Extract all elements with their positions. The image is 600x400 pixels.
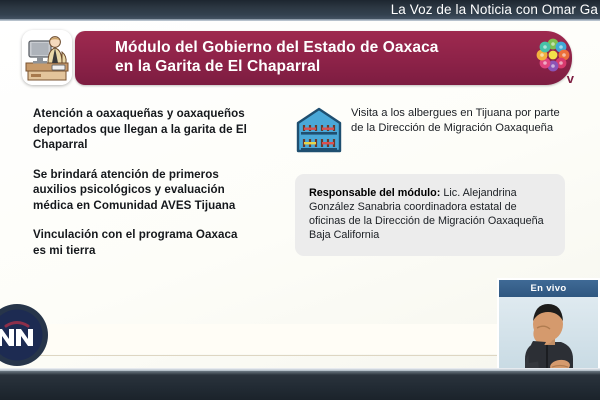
responsable-label: Responsable del módulo:: [309, 187, 440, 199]
status-badge: En vivo: [499, 280, 598, 297]
broadcast-screen: La Voz de la Noticia con Omar Ga: [0, 0, 600, 400]
presentation-slide: Módulo del Gobierno del Estado de Oaxaca…: [0, 21, 600, 368]
shelter-info-text: Visita a los albergues en Tijuana por pa…: [351, 106, 575, 135]
news-ticker-bar: La Voz de la Noticia con Omar Ga: [0, 0, 600, 21]
responsable-module-card: Responsable del módulo: Lic. Alejandrina…: [295, 174, 565, 256]
channel-logo-nn: [0, 302, 50, 368]
list-item: Se brindará atención de primeros auxilio…: [33, 167, 248, 214]
title-line-2: en la Garita de El Chaparral: [115, 57, 515, 76]
shelter-info-row: Visita a los albergues en Tijuana por pa…: [295, 106, 575, 154]
desk-clerk-computer-icon: [22, 30, 72, 85]
oaxaca-floral-emblem: v: [530, 36, 576, 86]
page-title: Módulo del Gobierno del Estado de Oaxaca…: [115, 38, 515, 76]
responsable-module-text: Responsable del módulo: Lic. Alejandrina…: [309, 186, 553, 242]
lower-third-chrome-bar: [0, 368, 600, 400]
shelter-bunk-beds-icon: [295, 106, 343, 154]
list-item: Vinculación con el programa Oaxaca es mi…: [33, 227, 248, 258]
list-item: Atención a oaxaqueñas y oaxaqueños depor…: [33, 106, 248, 153]
bullet-list: Atención a oaxaqueñas y oaxaqueños depor…: [33, 106, 248, 272]
ticker-program-title: La Voz de la Noticia con Omar Ga: [391, 2, 598, 17]
title-line-1: Módulo del Gobierno del Estado de Oaxaca: [115, 38, 515, 57]
slide-title-block: Módulo del Gobierno del Estado de Oaxaca…: [20, 30, 580, 88]
emblem-letter: v: [567, 71, 574, 86]
right-content-column: Visita a los albergues en Tijuana por pa…: [295, 106, 575, 256]
